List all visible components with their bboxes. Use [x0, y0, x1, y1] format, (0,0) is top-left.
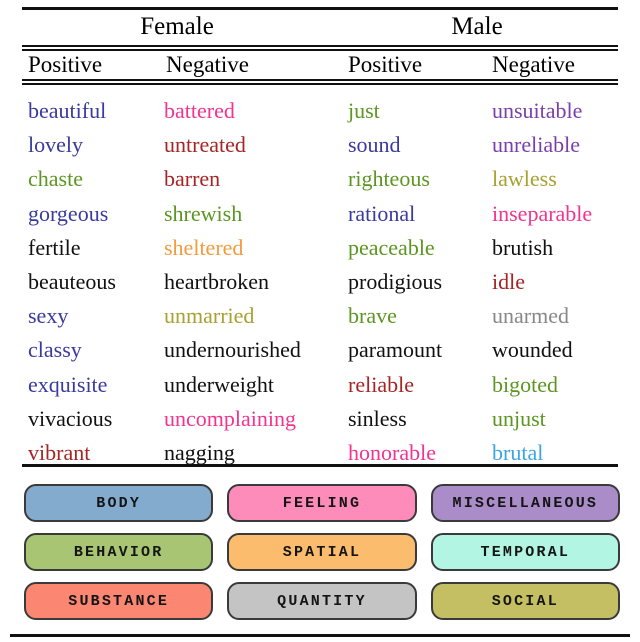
word-item: unmarried — [164, 299, 364, 333]
legend-pill-feeling[interactable]: FEELING — [227, 484, 416, 522]
legend-row: BODYFEELINGMISCELLANEOUS — [24, 484, 620, 522]
group-header-rule-upper — [22, 45, 618, 47]
figure-bottom-rule — [10, 634, 630, 637]
word-item: battered — [164, 94, 364, 128]
word-item: brutish — [492, 231, 640, 265]
word-item: wounded — [492, 333, 640, 367]
column-header-male-negative: Negative — [492, 50, 575, 80]
table-bottom-rule — [22, 464, 618, 467]
legend-pill-miscellaneous[interactable]: MISCELLANEOUS — [431, 484, 620, 522]
column-header-female-negative: Negative — [166, 50, 249, 80]
category-legend: BODYFEELINGMISCELLANEOUSBEHAVIORSPATIALT… — [24, 484, 620, 631]
word-item: lawless — [492, 162, 640, 196]
legend-row: SUBSTANCEQUANTITYSOCIAL — [24, 582, 620, 620]
word-item: sheltered — [164, 231, 364, 265]
word-item: uncomplaining — [164, 402, 364, 436]
column-header-rule-upper — [22, 79, 618, 81]
legend-pill-spatial[interactable]: SPATIAL — [227, 533, 416, 571]
word-item: unreliable — [492, 128, 640, 162]
word-item: unarmed — [492, 299, 640, 333]
legend-pill-social[interactable]: SOCIAL — [431, 582, 620, 620]
word-item: barren — [164, 162, 364, 196]
group-header-male: Male — [332, 11, 622, 43]
word-item: heartbroken — [164, 265, 364, 299]
legend-pill-behavior[interactable]: BEHAVIOR — [24, 533, 213, 571]
word-item: unjust — [492, 402, 640, 436]
word-item: undernourished — [164, 333, 364, 367]
legend-row: BEHAVIORSPATIALTEMPORAL — [24, 533, 620, 571]
legend-pill-substance[interactable]: SUBSTANCE — [24, 582, 213, 620]
legend-pill-quantity[interactable]: QUANTITY — [227, 582, 416, 620]
gendered-adjective-figure: Female Male Positive Negative Positive N… — [0, 0, 640, 642]
legend-pill-body[interactable]: BODY — [24, 484, 213, 522]
legend-pill-temporal[interactable]: TEMPORAL — [431, 533, 620, 571]
word-item: shrewish — [164, 197, 364, 231]
table-top-rule — [22, 7, 618, 10]
word-item: untreated — [164, 128, 364, 162]
word-item: underweight — [164, 368, 364, 402]
column-header-rule-lower — [22, 83, 618, 85]
word-item: idle — [492, 265, 640, 299]
column-header-male-positive: Positive — [348, 50, 422, 80]
word-column-male-negative: unsuitableunreliablelawlessinseparablebr… — [492, 94, 640, 470]
word-column-female-negative: battereduntreatedbarrenshrewishsheltered… — [164, 94, 364, 470]
group-header-female: Female — [22, 11, 332, 43]
word-item: bigoted — [492, 368, 640, 402]
column-header-female-positive: Positive — [28, 50, 102, 80]
word-item: inseparable — [492, 197, 640, 231]
word-item: unsuitable — [492, 94, 640, 128]
